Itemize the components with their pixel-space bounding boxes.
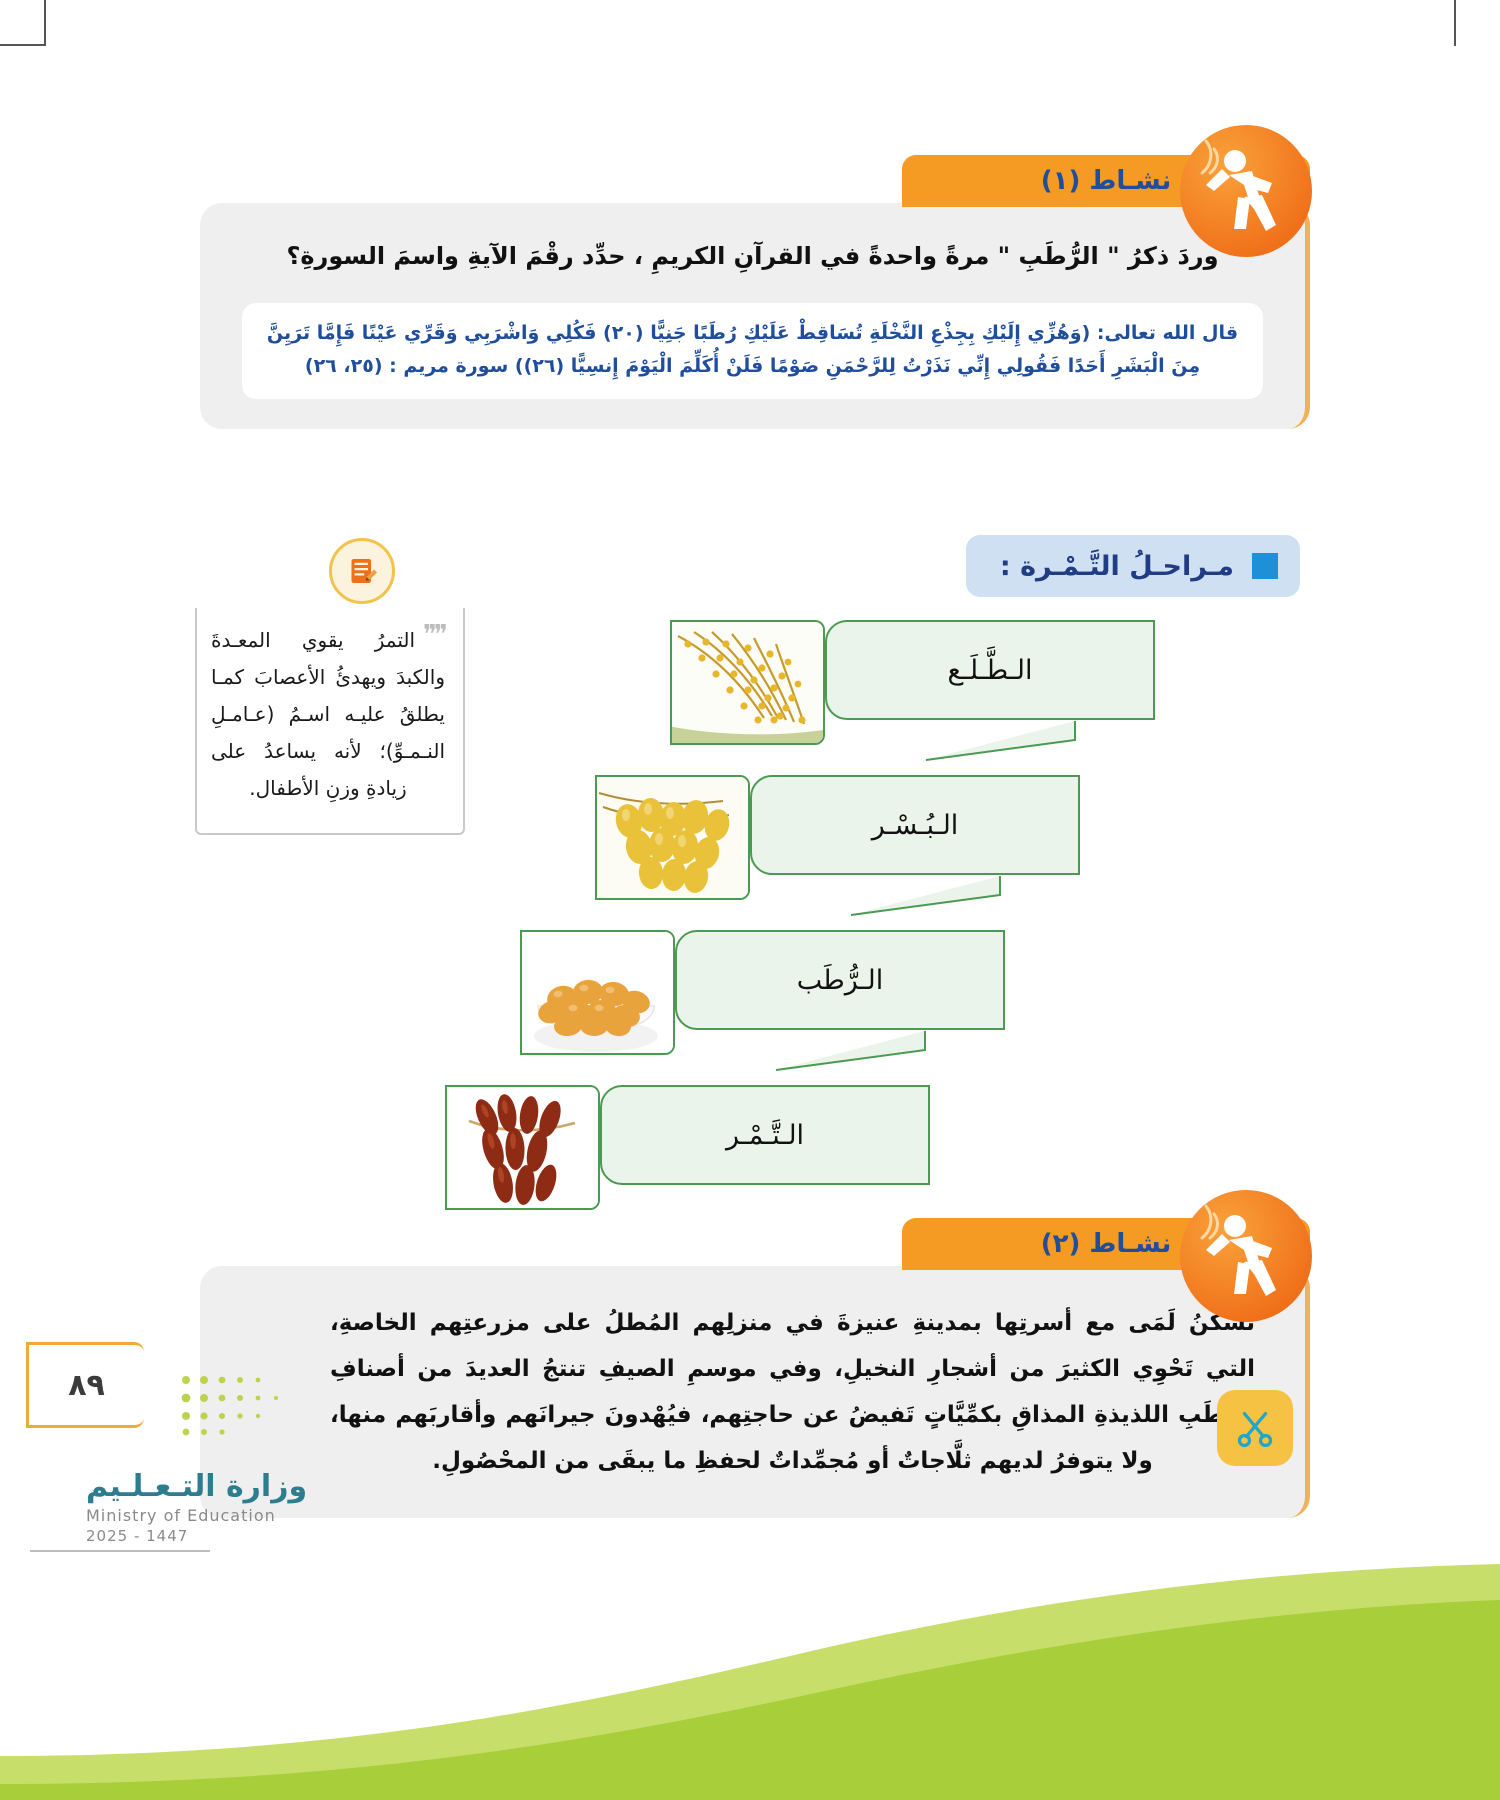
running-child-icon	[1180, 125, 1312, 257]
stage-item-2: الـبُـسْـر	[595, 775, 1080, 900]
stages-section-title: مـراحـلُ التَّـمْـرة :	[1000, 551, 1234, 582]
stage-item-1: الـطَّـلَـع	[670, 620, 1155, 745]
crop-mark-top-left-vertical	[44, 0, 46, 46]
activity-1-question: وردَ ذكرُ " الرُّطَبِ " مرةً واحدةً في ا…	[242, 237, 1263, 277]
decorative-dots	[178, 1370, 328, 1440]
side-note-text: ❞❞ التمرُ يقوي المعـدةَ والكبدَ ويهدئُ ا…	[211, 622, 445, 807]
ministry-name-english: Ministry of Education	[86, 1506, 307, 1525]
blue-square-bullet-icon	[1252, 553, 1278, 579]
activity-1-card: نشـاط (١) وردَ ذكرُ " الرُّطَبِ " مرةً و…	[200, 155, 1310, 429]
page-number-box: ٨٩	[26, 1342, 144, 1428]
activity-2-paragraph: تسكنُ لَمَى مع أسرتِها بمدينةِ عنيزةَ في…	[330, 1300, 1255, 1484]
activity-1-body: وردَ ذكرُ " الرُّطَبِ " مرةً واحدةً في ا…	[200, 203, 1310, 429]
activity-2-body: تسكنُ لَمَى مع أسرتِها بمدينةِ عنيزةَ في…	[200, 1266, 1310, 1518]
activity-1-tab-label: نشـاط (١)	[1041, 166, 1172, 196]
footer-wave-decoration	[0, 1560, 1500, 1800]
activity-2-card: نشـاط (٢) تسكنُ لَمَى مع أسرتِها بمدينةِ…	[200, 1218, 1310, 1518]
side-note: ❞❞ التمرُ يقوي المعـدةَ والكبدَ ويهدئُ ا…	[195, 608, 465, 835]
dried-dark-dates-photo	[445, 1085, 600, 1210]
ministry-year: 2025 - 1447	[86, 1527, 307, 1545]
scissors-icon	[1217, 1390, 1293, 1466]
crop-mark-top-left-horizontal	[0, 44, 46, 46]
stage-item-3: الـرُّطَب	[520, 930, 1005, 1055]
stage-connector-3	[770, 1030, 930, 1072]
date-palm-flower-spathe-photo	[670, 620, 825, 745]
stage-label-1: الـطَّـلَـع	[825, 620, 1155, 720]
crop-mark-top-right-vertical	[1454, 0, 1456, 46]
activity-2-tab-label: نشـاط (٢)	[1041, 1229, 1172, 1259]
quote-marks-icon: ❞❞	[423, 622, 445, 648]
stage-connector-1	[920, 720, 1080, 762]
verse-line-1: قال الله تعالى: (وَهُزِّي إِلَيْكِ بِجِذ…	[264, 317, 1241, 350]
ministry-name-arabic: وزارة التـعـلـيم	[86, 1469, 307, 1504]
verse-line-2: مِنَ الْبَشَرِ أَحَدًا فَقُولِي إِنِّي ن…	[264, 350, 1241, 383]
activity-1-verse-box: قال الله تعالى: (وَهُزِّي إِلَيْكِ بِجِذ…	[242, 303, 1263, 400]
stage-label-3: الـرُّطَب	[675, 930, 1005, 1030]
notepad-pencil-icon	[329, 538, 395, 604]
running-child-icon	[1180, 1190, 1312, 1322]
stage-label-4: الـتَّـمْـر	[600, 1085, 930, 1185]
textbook-page: نشـاط (١) وردَ ذكرُ " الرُّطَبِ " مرةً و…	[0, 0, 1500, 1800]
ministry-divider	[30, 1550, 210, 1552]
stage-connector-2	[845, 875, 1005, 917]
side-note-body: التمرُ يقوي المعـدةَ والكبدَ ويهدئُ الأع…	[211, 628, 445, 800]
stage-label-2: الـبُـسْـر	[750, 775, 1080, 875]
stage-item-4: الـتَّـمْـر	[445, 1085, 930, 1210]
fresh-ripe-rutab-dates-bowl-photo	[520, 930, 675, 1055]
stages-section-header: مـراحـلُ التَّـمْـرة :	[966, 535, 1300, 597]
ministry-of-education-logo: وزارة التـعـلـيم Ministry of Education 2…	[86, 1469, 307, 1545]
yellow-unripe-dates-photo	[595, 775, 750, 900]
page-number: ٨٩	[68, 1368, 105, 1403]
